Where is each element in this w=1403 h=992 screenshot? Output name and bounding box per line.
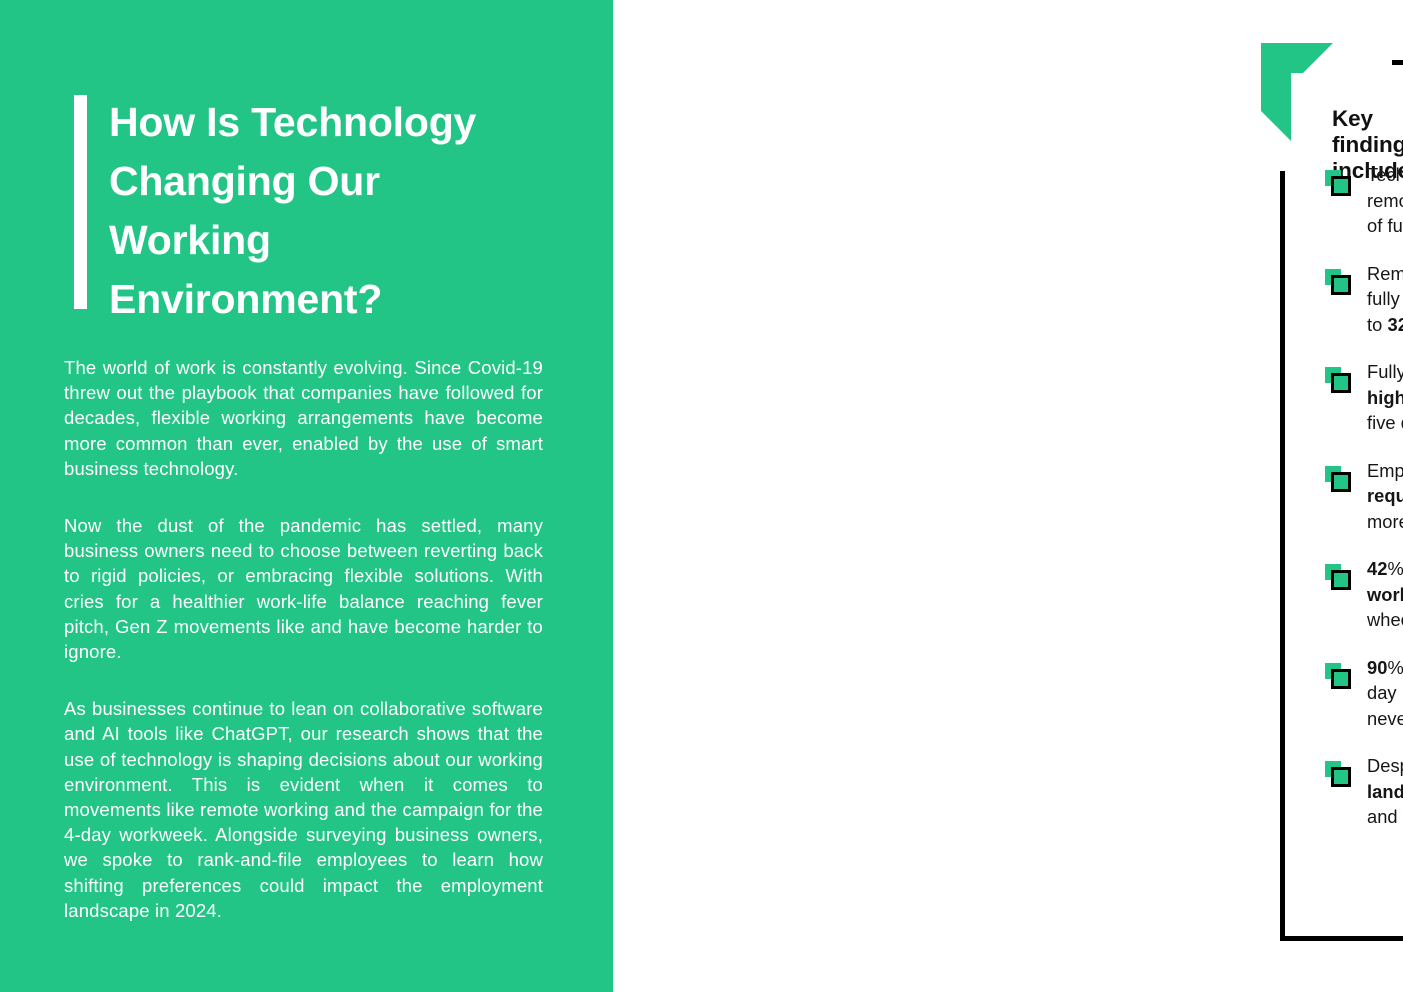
list-item: 90% of businesses with AI experience are… (1325, 655, 1403, 732)
page-title: How Is Technology Changing Our Working E… (74, 93, 544, 329)
green-square-bullet-icon (1325, 269, 1351, 295)
list-item: Technology use remains high for all busi… (1325, 162, 1403, 239)
green-square-bullet-icon (1325, 170, 1351, 196)
finding-text: Despite recent technology breakthroughs,… (1367, 753, 1403, 830)
list-item: 42% of business owners are considering i… (1325, 556, 1403, 633)
intro-paragraph-2: Now the dust of the pandemic has settled… (64, 513, 543, 664)
list-item: Remote teams face fewer recruitment road… (1325, 261, 1403, 338)
finding-text: Fully and partially remote businesses ov… (1367, 359, 1403, 436)
frame-bottom-edge (1280, 936, 1403, 941)
title-accent-bar (74, 95, 87, 309)
green-square-bullet-icon (1325, 761, 1351, 787)
intro-body-copy: The world of work is constantly evolving… (64, 355, 543, 923)
green-corner-bracket-icon (1261, 43, 1333, 141)
title-block: How Is Technology Changing Our Working E… (74, 93, 544, 329)
green-square-bullet-icon (1325, 466, 1351, 492)
right-findings-panel: Key findings include: Technology use rem… (613, 0, 1403, 992)
list-item: Fully and partially remote businesses ov… (1325, 359, 1403, 436)
list-item: Employees tend to come into the office m… (1325, 458, 1403, 535)
finding-text: Technology use remains high for all busi… (1367, 162, 1403, 239)
finding-text: Remote teams face fewer recruitment road… (1367, 261, 1403, 338)
intro-paragraph-3: As businesses continue to lean on collab… (64, 696, 543, 923)
finding-text: 90% of businesses with AI experience are… (1367, 655, 1403, 732)
green-square-bullet-icon (1325, 367, 1351, 393)
finding-text: 42% of business owners are considering i… (1367, 556, 1403, 633)
key-findings-list: Technology use remains high for all busi… (1325, 162, 1403, 830)
intro-paragraph-1: The world of work is constantly evolving… (64, 355, 543, 481)
finding-text: Employees tend to come into the office m… (1367, 458, 1403, 535)
green-square-bullet-icon (1325, 564, 1351, 590)
frame-top-edge (1392, 60, 1403, 65)
list-item: Despite recent technology breakthroughs,… (1325, 753, 1403, 830)
frame-left-edge (1280, 171, 1285, 941)
left-green-panel: How Is Technology Changing Our Working E… (0, 0, 613, 992)
green-square-bullet-icon (1325, 663, 1351, 689)
